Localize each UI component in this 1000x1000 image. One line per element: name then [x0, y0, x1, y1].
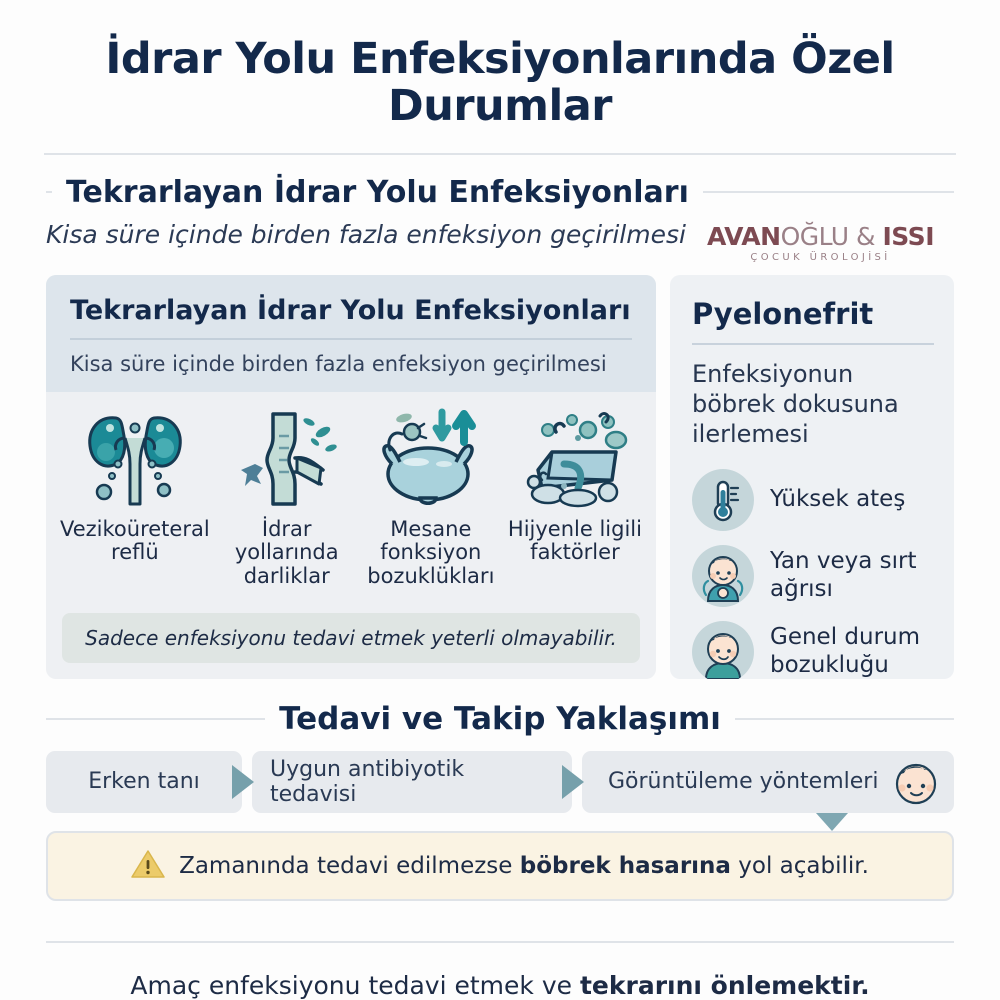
warning-text-after: yol açabilir.	[731, 853, 869, 879]
flow-step-1[interactable]: Erken tanı	[46, 751, 242, 813]
title-divider	[44, 153, 956, 155]
symptom-item: Genel durum bozukluğu	[692, 619, 934, 679]
flow-step-2[interactable]: Uygun antibiyotik tedavisi	[252, 751, 572, 813]
flow-down-caret-icon	[816, 813, 848, 831]
logo-wordmark: AVANOĞLU & ISSI	[707, 224, 934, 249]
symptoms-list: Yüksek ateş	[692, 467, 934, 679]
treatment-flow: Erken tanı Uygun antibiyotik tedavisi Gö…	[46, 751, 954, 813]
cause-item: Vezikoüreteral reflü	[56, 406, 214, 589]
card-title-divider	[692, 343, 934, 345]
card-lead: Enfeksiyonun böbrek dokusuna ilerlemesi	[692, 359, 934, 449]
warning-text-bold: böbrek hasarına	[520, 853, 731, 879]
logo-part-3: &	[849, 222, 883, 251]
soap-hygiene-icon	[504, 406, 646, 510]
rule-right	[703, 191, 954, 193]
card-header-band: Tekrarlayan İdrar Yolu Enfeksiyonları Ki…	[46, 275, 656, 392]
cards-row: Tekrarlayan İdrar Yolu Enfeksiyonları Ki…	[46, 275, 954, 679]
rule-left	[46, 718, 265, 720]
symptom-label: Genel durum bozukluğu	[770, 624, 934, 678]
warning-triangle-icon	[131, 849, 165, 883]
section-subtitle: Kisa süre içinde birden fazla enfeksiyon…	[46, 220, 686, 249]
logo-part-2: OĞLU	[781, 222, 849, 251]
warning-banner: Zamanında tedavi edilmezse böbrek hasarı…	[46, 831, 954, 901]
treatment-heading: Tedavi ve Takip Yaklaşımı	[279, 701, 721, 737]
section-header-treatment: Tedavi ve Takip Yaklaşımı	[46, 701, 954, 737]
thermometer-icon	[692, 469, 754, 531]
cause-item: Mesane fonksiyon bozuklükları	[360, 406, 502, 589]
cause-label: Vezikoüreteral reflü	[56, 518, 214, 565]
symptom-label: Yüksek ateş	[770, 486, 905, 513]
section-heading-text: Tekrarlayan İdrar Yolu Enfeksiyonları	[66, 175, 689, 210]
warning-text-before: Zamanında tedavi edilmezse	[179, 853, 520, 879]
cause-label: Mesane fonksiyon bozuklükları	[360, 518, 502, 589]
card-title: Pyelonefrit	[692, 297, 934, 331]
infographic-page: İdrar Yolu Enfeksiyonlarında Özel Duruml…	[0, 0, 1000, 1000]
bladder-dysfunction-icon	[360, 406, 502, 510]
brand-logo: AVANOĞLU & ISSI ÇOCUK ÜROLOJİSİ	[707, 220, 954, 263]
symptom-label: Yan veya sırt ağrısı	[770, 548, 934, 602]
card-pyelonephritis: Pyelonefrit Enfeksiyonun böbrek dokusuna…	[670, 275, 954, 679]
cause-item: İdrar yollarında darliklar	[216, 406, 358, 589]
card-recurrent-uti: Tekrarlayan İdrar Yolu Enfeksiyonları Ki…	[46, 275, 656, 679]
card-title: Tekrarlayan İdrar Yolu Enfeksiyonları	[70, 295, 632, 326]
card-title-divider	[70, 338, 632, 340]
causes-grid: Vezikoüreteral reflü	[46, 392, 656, 589]
cause-label: Hijyenle ligili faktörler	[504, 518, 646, 565]
flow-arrow-1-icon	[232, 765, 254, 799]
card-note: Sadece enfeksiyonu tedavi etmek yeterli …	[62, 613, 640, 663]
logo-part-1: AVAN	[707, 222, 781, 251]
urinary-stricture-icon	[216, 406, 358, 510]
footer-text-bold: tekrarını önlemektir.	[580, 971, 870, 1000]
symptom-item: Yüksek ateş	[692, 467, 934, 533]
logo-part-4: ISSI	[883, 222, 935, 251]
cause-item: Hijyenle ligili faktörler	[504, 406, 646, 589]
warning-text: Zamanında tedavi edilmezse böbrek hasarı…	[179, 853, 869, 879]
rule-left	[46, 191, 52, 193]
footer-text: Amaç enfeksiyonu tedavi etmek ve tekrarı…	[22, 943, 978, 1000]
flow-arrow-2-icon	[562, 765, 584, 799]
section-subtitle-row: Kisa süre içinde birden fazla enfeksiyon…	[46, 220, 954, 263]
section-header-recurrent: Tekrarlayan İdrar Yolu Enfeksiyonları	[46, 175, 954, 210]
rule-right	[735, 718, 954, 720]
child-face-icon	[882, 751, 950, 813]
logo-subtitle: ÇOCUK ÜROLOJİSİ	[707, 249, 934, 263]
footer-text-before: Amaç enfeksiyonu tedavi etmek ve	[130, 971, 580, 1000]
card-subtitle: Kisa süre içinde birden fazla enfeksiyon…	[70, 352, 632, 376]
cause-label: İdrar yollarında darliklar	[216, 518, 358, 589]
symptom-item: Yan veya sırt ağrısı	[692, 543, 934, 609]
child-unwell-icon	[692, 621, 754, 679]
page-title: İdrar Yolu Enfeksiyonlarında Özel Duruml…	[22, 0, 978, 131]
child-back-pain-icon	[692, 545, 754, 607]
kidneys-reflux-icon	[56, 406, 214, 510]
